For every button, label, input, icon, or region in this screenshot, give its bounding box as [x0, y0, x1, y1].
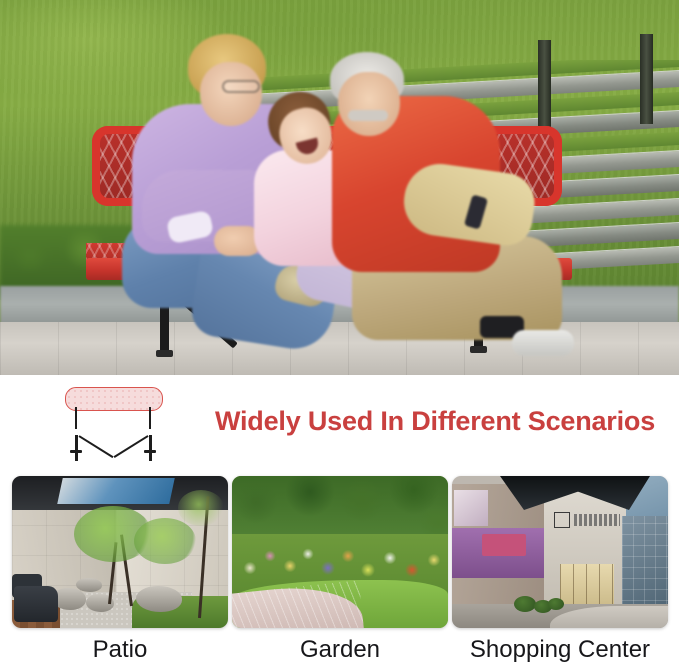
eyeglasses-icon: [222, 80, 260, 93]
scenario-card-shopping-center[interactable]: [452, 476, 668, 628]
patio-thumbnail: [12, 476, 228, 628]
headline-band: Widely Used In Different Scenarios: [0, 375, 679, 467]
shopping-center-thumbnail: [452, 476, 668, 628]
garden-thumbnail: [232, 476, 448, 628]
pavement: [0, 322, 679, 375]
bench-foot-right: [470, 346, 487, 353]
page-title: Widely Used In Different Scenarios: [200, 375, 670, 467]
scenario-card-patio[interactable]: [12, 476, 228, 628]
bench-foot-left: [156, 350, 173, 357]
hero-image: [0, 0, 679, 375]
scenario-label-shopping-center: Shopping Center: [452, 633, 668, 667]
mall-logo-icon: [554, 512, 570, 528]
scenario-label-garden: Garden: [232, 633, 448, 667]
post-right: [640, 34, 653, 124]
scenario-gallery: Patio Garden Shopping Center: [0, 467, 679, 670]
scenario-label-patio: Patio: [12, 633, 228, 667]
red-park-bench-icon: [55, 387, 173, 455]
scenario-card-garden[interactable]: [232, 476, 448, 628]
